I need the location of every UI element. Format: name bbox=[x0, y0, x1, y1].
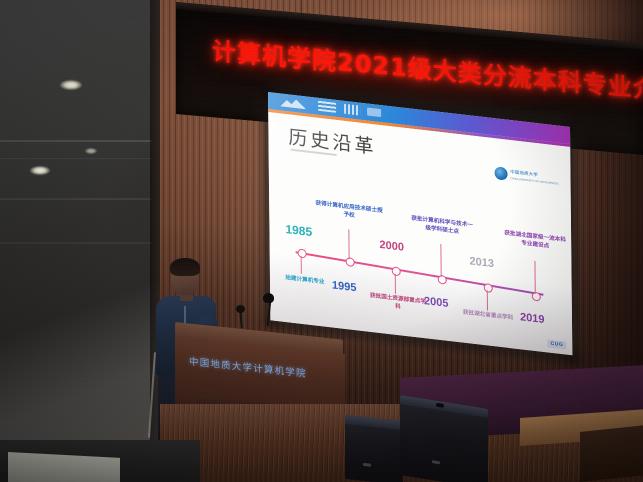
timeline-year: 2019 bbox=[520, 311, 545, 326]
slide-watermark: CUG bbox=[548, 339, 567, 349]
timeline-stem bbox=[301, 256, 302, 274]
ceiling-light bbox=[85, 148, 97, 154]
timeline-label: 获得计算机应用技术硕士授予权 bbox=[315, 199, 383, 223]
loudspeaker bbox=[400, 395, 488, 482]
lecture-hall-photo: 计算机学院2021级大类分流本科专业介绍会 历史沿革 中国地质大学 CHINA bbox=[0, 0, 643, 482]
timeline-stem bbox=[487, 290, 488, 310]
podium-nameplate: 中国地质大学计算机学院 bbox=[189, 353, 337, 383]
timeline-node bbox=[298, 248, 307, 258]
timeline-label: 获批国土资源部重点学科 bbox=[368, 292, 428, 315]
timeline-label: 获批计算机科学与技术一级学科硕士点 bbox=[409, 214, 475, 238]
tag-icon bbox=[367, 107, 381, 117]
timeline-stem bbox=[440, 244, 442, 277]
timeline-year: 1985 bbox=[285, 222, 312, 239]
org-logo-name-en: CHINA UNIVERSITY OF GEOSCIENCES bbox=[510, 177, 558, 186]
microphone-icon bbox=[236, 305, 245, 313]
org-logo-icon bbox=[494, 166, 507, 181]
org-logo-name-cn: 中国地质大学 bbox=[510, 169, 538, 177]
presenter-hair bbox=[170, 258, 200, 276]
timeline-node bbox=[438, 275, 447, 285]
lines-icon bbox=[318, 101, 336, 113]
bars-icon bbox=[344, 104, 360, 116]
ceiling-light bbox=[30, 166, 50, 175]
foreground-panel bbox=[8, 452, 120, 482]
timeline-year: 2013 bbox=[469, 255, 494, 270]
ceiling bbox=[0, 0, 175, 482]
timeline-label: 获批湖北国家级一流本科专业建设点 bbox=[503, 229, 567, 253]
timeline-node bbox=[346, 257, 355, 267]
timeline-stem bbox=[348, 229, 350, 259]
org-logo: 中国地质大学 CHINA UNIVERSITY OF GEOSCIENCES bbox=[494, 166, 558, 186]
projection-screen: 历史沿革 中国地质大学 CHINA UNIVERSITY OF GEOSCIEN… bbox=[268, 92, 572, 359]
timeline-year: 1995 bbox=[332, 279, 357, 294]
ceiling-light bbox=[60, 80, 82, 90]
mountain-logo-icon bbox=[280, 96, 306, 109]
timeline-stem bbox=[534, 261, 536, 294]
timeline-node bbox=[532, 292, 541, 302]
timeline-year: 2000 bbox=[379, 239, 404, 254]
timeline-label: 始建计算机专业 bbox=[272, 272, 338, 288]
timeline-stem bbox=[395, 274, 396, 294]
timeline-node bbox=[484, 283, 493, 293]
microphone-icon bbox=[263, 293, 274, 303]
loudspeaker bbox=[345, 415, 403, 482]
slide-canvas: 历史沿革 中国地质大学 CHINA UNIVERSITY OF GEOSCIEN… bbox=[268, 112, 572, 355]
timeline-node bbox=[392, 266, 401, 276]
bench bbox=[580, 425, 643, 482]
